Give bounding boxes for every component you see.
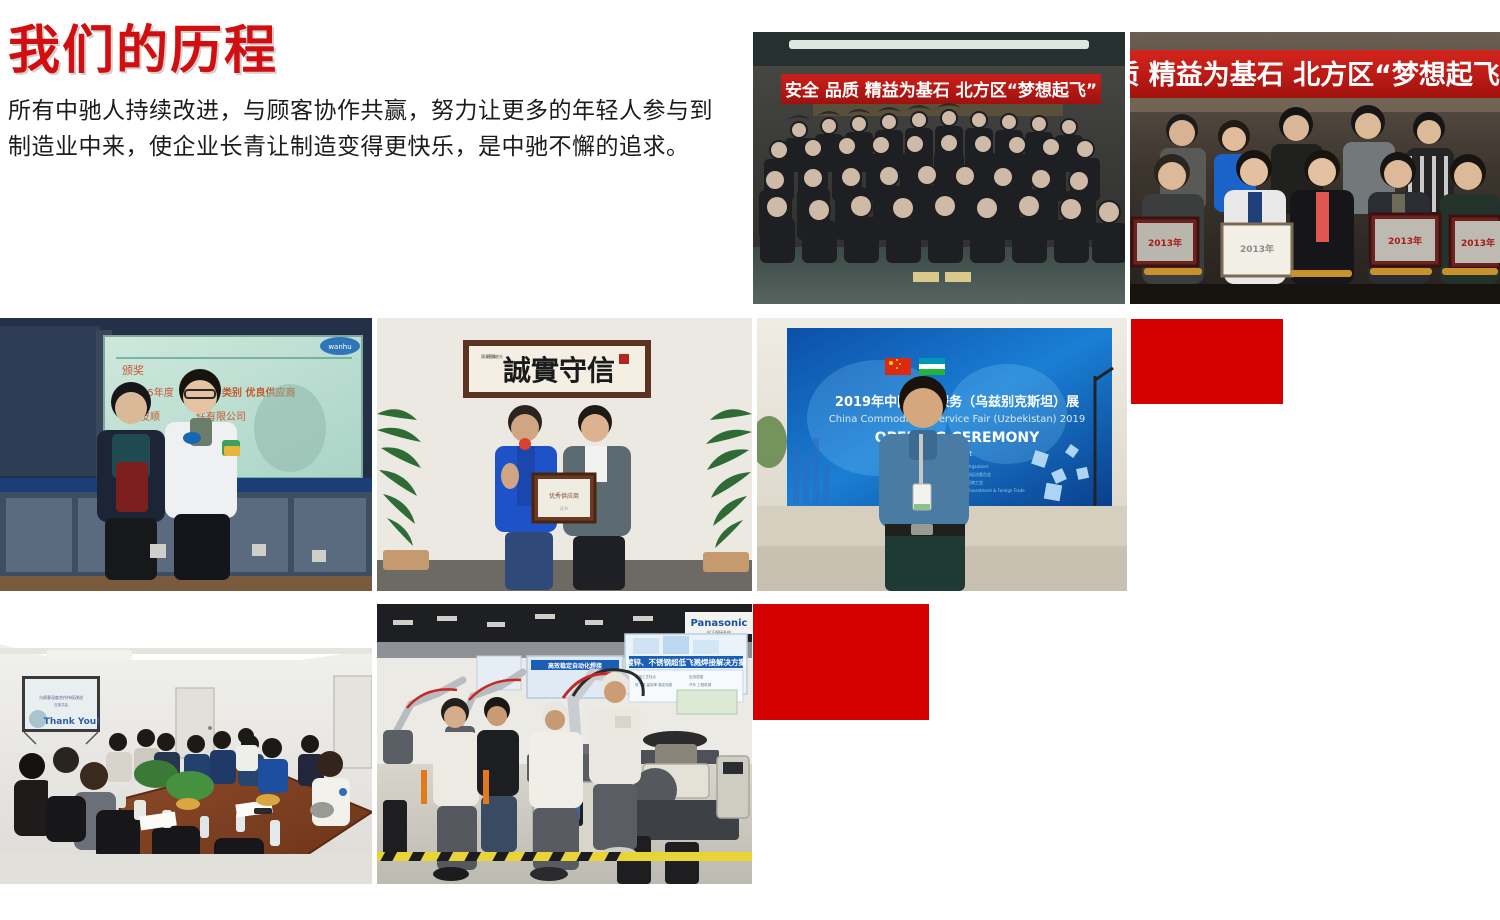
svg-text:证书: 证书 — [560, 505, 568, 511]
svg-text:誠實守信: 誠實守信 — [503, 354, 615, 387]
svg-text:2013年: 2013年 — [1148, 237, 1182, 249]
svg-text:颁奖: 颁奖 — [122, 363, 144, 377]
photo-certificate-calligraphy: 誠實守信 國泰民安德厚流光 — [377, 318, 752, 591]
gallery-tile-robot-welding[interactable]: Panasonic 松下焊接系统 镀锌、不锈钢超低飞溅焊接解决方案 焊接工艺特点… — [377, 604, 752, 884]
svg-text:镀锌、不锈钢超低飞溅焊接解决方案: 镀锌、不锈钢超低飞溅焊接解决方案 — [626, 657, 746, 667]
svg-text:与顾客深度合作持续改进: 与顾客深度合作持续改进 — [39, 694, 83, 700]
svg-text:2019年中国商品服务（乌兹别克斯坦）展: 2019年中国商品服务（乌兹别克斯坦）展 — [835, 394, 1080, 410]
svg-text:2013年: 2013年 — [1388, 235, 1422, 247]
intro-block: 我们的历程 所有中驰人持续改进，与顾客协作共赢，努力让更多的年轻人参与到制造业中… — [8, 24, 728, 165]
gallery-tile-group-photo-banner[interactable]: 安全 品质 精益为基石 北方区“梦想起飞” — [753, 32, 1125, 304]
page-root: 我们的历程 所有中驰人持续改进，与顾客协作共赢，努力让更多的年轻人参与到制造业中… — [0, 0, 1500, 920]
photo-supplier-award: wanhu 颁奖 · 2015年度 类别 优良供应商 皮顺 件有限公司 — [0, 318, 372, 591]
missing-image-placeholder-right[interactable] — [1131, 319, 1283, 404]
svg-text:应用范围: 应用范围 — [689, 674, 703, 679]
photo-group-photo-banner: 安全 品质 精益为基石 北方区“梦想起飞” — [753, 32, 1125, 304]
gallery-tile-uzbekistan-fair[interactable]: 2019年中国商品服务（乌兹别克斯坦）展 China Commodity & S… — [757, 318, 1127, 591]
svg-text:优秀供应商: 优秀供应商 — [549, 492, 579, 500]
gallery-tile-award-ceremony[interactable]: 质 精益为基石 北方区“梦想起飞” — [1130, 32, 1500, 304]
page-title: 我们的历程 — [8, 24, 728, 79]
gallery-tile-supplier-award[interactable]: wanhu 颁奖 · 2015年度 类别 优良供应商 皮顺 件有限公司 — [0, 318, 372, 591]
svg-text:wanhu: wanhu — [328, 343, 351, 351]
gallery-tile-conference-meeting[interactable]: 与顾客深度合作持续改进 互惠共赢 Thank You! — [0, 604, 372, 884]
photo-robot-welding: Panasonic 松下焊接系统 镀锌、不锈钢超低飞溅焊接解决方案 焊接工艺特点… — [377, 604, 752, 884]
photo-award-ceremony: 质 精益为基石 北方区“梦想起飞” — [1130, 32, 1500, 304]
gallery-tile-certificate-calligraphy[interactable]: 誠實守信 國泰民安德厚流光 — [377, 318, 752, 591]
svg-text:2013年: 2013年 — [1240, 243, 1274, 255]
photo-uzbekistan-fair: 2019年中国商品服务（乌兹别克斯坦）展 China Commodity & S… — [757, 318, 1127, 591]
svg-text:Thank You!: Thank You! — [44, 717, 101, 727]
svg-text:Panasonic: Panasonic — [691, 618, 748, 629]
photo-conference-meeting: 与顾客深度合作持续改进 互惠共赢 Thank You! — [0, 604, 372, 884]
svg-text:德厚流光: 德厚流光 — [487, 353, 503, 359]
svg-text:2013年: 2013年 — [1461, 237, 1495, 249]
svg-text:互惠共赢: 互惠共赢 — [54, 702, 68, 707]
svg-text:汽车 工程机械: 汽车 工程机械 — [689, 682, 712, 687]
svg-text:China Commodity & Service Fair: China Commodity & Service Fair (Uzbekist… — [829, 414, 1085, 425]
svg-text:安全 品质 精益为基石 北方区“梦想起飞”: 安全 品质 精益为基石 北方区“梦想起飞” — [785, 80, 1097, 101]
missing-image-placeholder-middle[interactable] — [753, 604, 929, 720]
intro-paragraph: 所有中驰人持续改进，与顾客协作共赢，努力让更多的年轻人参与到制造业中来，使企业长… — [8, 93, 728, 166]
svg-text:质 精益为基石 北方区“梦想起飞”: 质 精益为基石 北方区“梦想起飞” — [1130, 59, 1500, 91]
